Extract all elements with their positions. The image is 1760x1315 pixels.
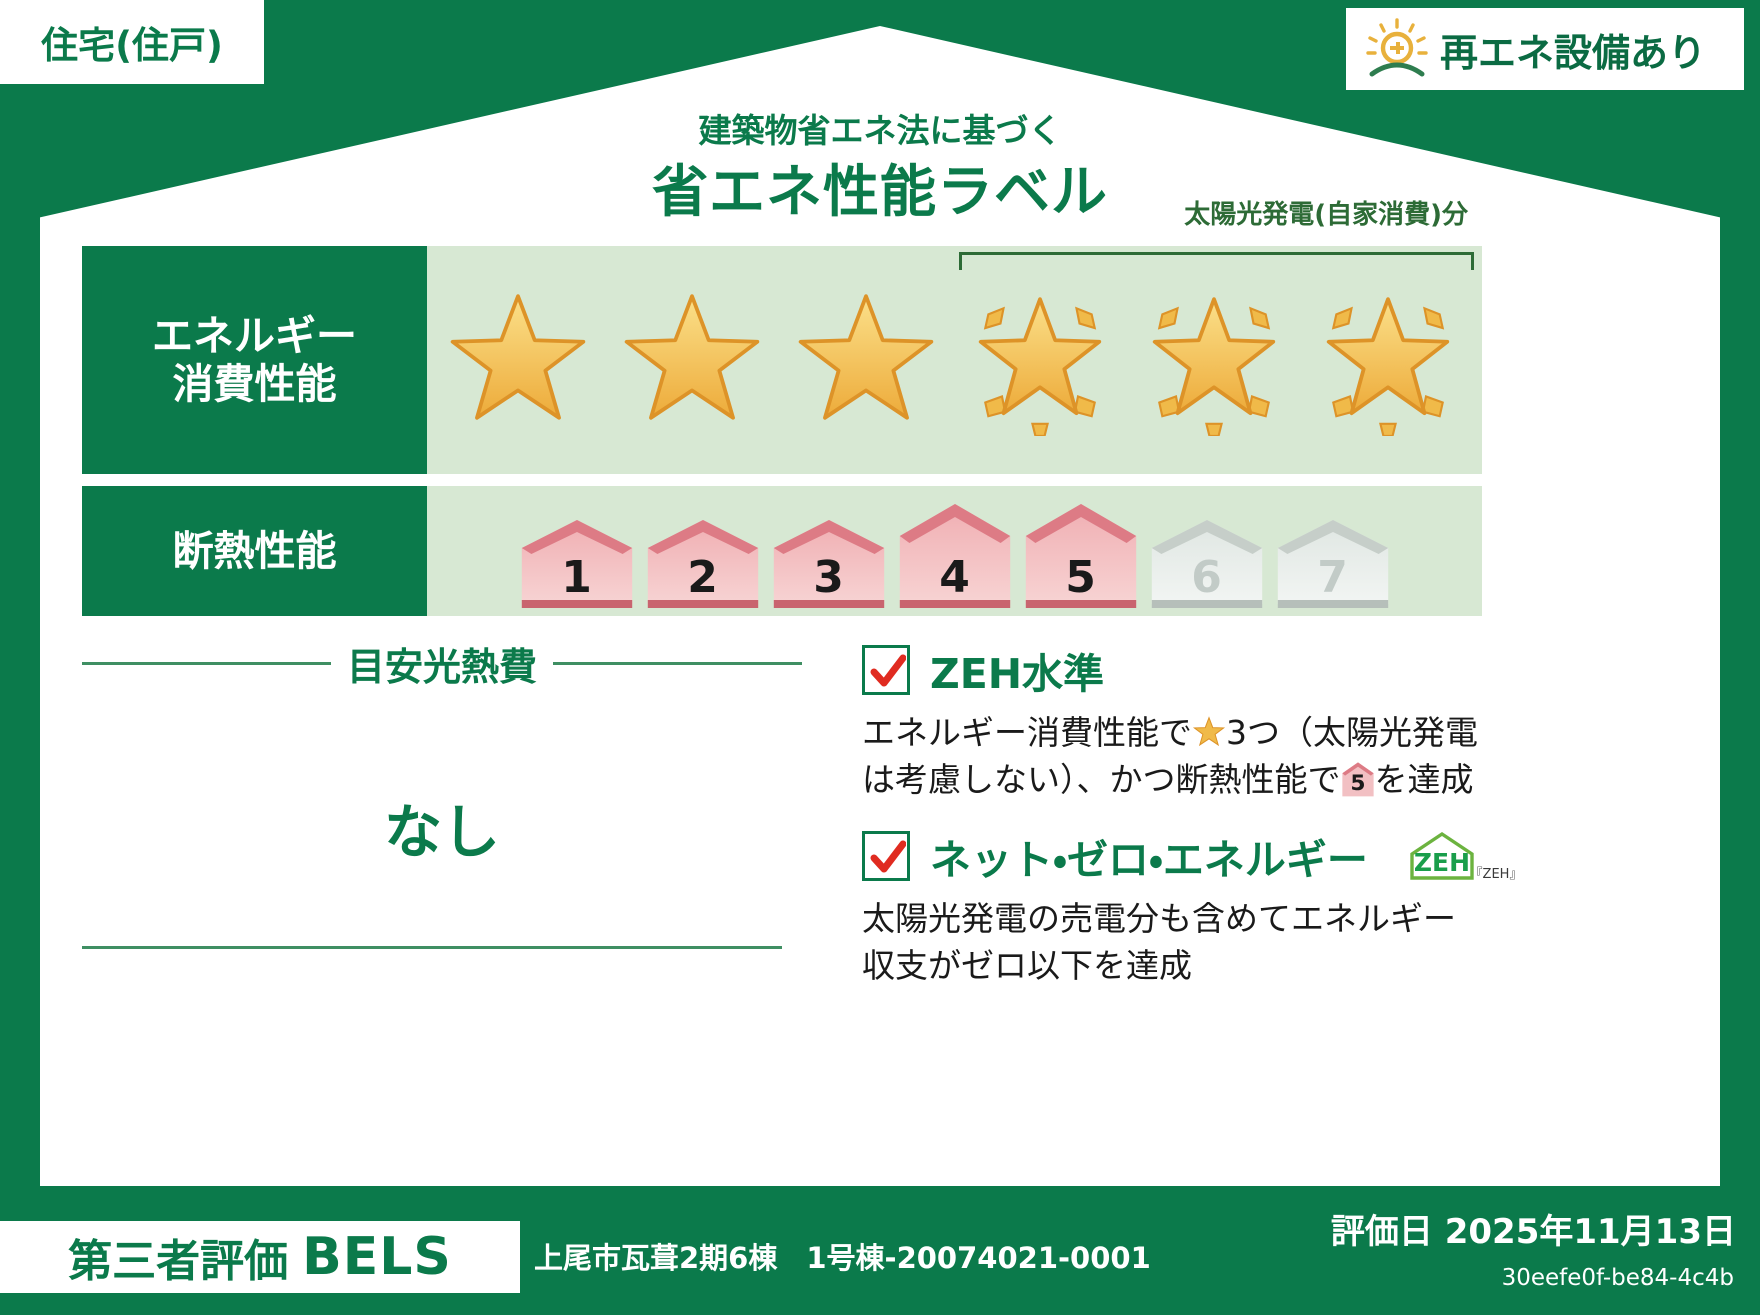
zeh-criteria-block: ZEH水準 エネルギー消費性能で3つ（太陽光発電 は考慮しない）、かつ断熱性能で… bbox=[862, 640, 1502, 995]
energy-star-field: 太陽光発電(自家消費)分 bbox=[427, 246, 1482, 474]
insulation-grade-number: 2 bbox=[643, 556, 763, 600]
bels-logo-text: BELS bbox=[302, 1227, 452, 1287]
energy-label-line1: エネルギー bbox=[152, 312, 357, 360]
renewable-badge-label: 再エネ設備あり bbox=[1440, 22, 1706, 77]
insulation-grade-7: 7 bbox=[1273, 516, 1393, 608]
net-zero-description: 太陽光発電の売電分も含めてエネルギー 収支がゼロ以下を達成 bbox=[862, 896, 1502, 990]
star-icon bbox=[442, 284, 594, 436]
insulation-grade-field: 1 2 3 bbox=[427, 486, 1482, 616]
zeh-desc-part4: を達成 bbox=[1375, 760, 1474, 799]
net-zero-desc-line2: 収支がゼロ以下を達成 bbox=[862, 946, 1192, 985]
star-icon-sparkle bbox=[1138, 284, 1290, 436]
net-zero-title: ネット・ゼロ・エネルギー bbox=[930, 826, 1368, 886]
svg-text:5: 5 bbox=[1350, 771, 1365, 796]
insulation-grade-number: 1 bbox=[517, 556, 637, 600]
insulation-grade-number: 4 bbox=[895, 556, 1015, 600]
insulation-performance-label: 断熱性能 bbox=[82, 486, 427, 616]
bels-energy-label: 住宅(住戸) 再エネ設備あり 建築物省エネ法に基づく 省エ bbox=[0, 0, 1760, 1315]
renewable-energy-badge: 再エネ設備あり bbox=[1346, 8, 1744, 90]
net-zero-head: ネット・ゼロ・エネルギー ZEH 『ZEH』 bbox=[862, 826, 1502, 886]
building-type-chip: 住宅(住戸) bbox=[0, 0, 264, 84]
svg-text:ZEH: ZEH bbox=[1414, 848, 1470, 877]
third-party-label: 第三者評価 bbox=[68, 1225, 288, 1289]
label-uid: 30eefe0f-be84-4c4b bbox=[1502, 1265, 1734, 1291]
zeh-desc-part2: 3つ（太陽光発電 bbox=[1226, 713, 1478, 752]
heading-rule-left bbox=[82, 662, 331, 665]
inline-star-icon bbox=[1192, 715, 1226, 749]
insulation-grade-group: 1 2 3 bbox=[427, 486, 1482, 616]
zeh-logo-icon: ZEH 『ZEH』 bbox=[1402, 828, 1518, 884]
zeh-standard-head: ZEH水準 bbox=[862, 640, 1502, 700]
star-icon bbox=[790, 284, 942, 436]
inline-grade-house-icon: 5 bbox=[1341, 761, 1375, 797]
solar-generation-note: 太陽光発電(自家消費)分 bbox=[1184, 194, 1468, 231]
utility-cost-heading: 目安光熱費 bbox=[347, 636, 537, 691]
insulation-grade-1: 1 bbox=[517, 516, 637, 608]
building-type-label: 住宅(住戸) bbox=[41, 15, 223, 69]
insulation-grade-number: 7 bbox=[1273, 556, 1393, 600]
insulation-grade-4: 4 bbox=[895, 500, 1015, 608]
energy-label-line2: 消費性能 bbox=[173, 360, 337, 408]
zeh-standard-item: ZEH水準 エネルギー消費性能で3つ（太陽光発電 は考慮しない）、かつ断熱性能で… bbox=[862, 640, 1502, 804]
star-icon-sparkle bbox=[964, 284, 1116, 436]
label-subtitle: 建築物省エネ法に基づく bbox=[0, 104, 1760, 152]
energy-performance-label: エネルギー 消費性能 bbox=[82, 246, 427, 474]
zeh-standard-title: ZEH水準 bbox=[930, 640, 1104, 700]
insulation-grade-6: 6 bbox=[1147, 516, 1267, 608]
utility-cost-bottom-rule bbox=[82, 946, 782, 949]
star-icon-sparkle bbox=[1312, 284, 1464, 436]
insulation-grade-number: 5 bbox=[1021, 556, 1141, 600]
insulation-grade-3: 3 bbox=[769, 516, 889, 608]
zeh-desc-part1: エネルギー消費性能で bbox=[862, 713, 1192, 752]
net-zero-energy-item: ネット・ゼロ・エネルギー ZEH 『ZEH』 太陽光発電の売電分も含めてエネルギ… bbox=[862, 826, 1502, 990]
utility-cost-heading-row: 目安光熱費 bbox=[82, 636, 802, 691]
label-title: 省エネ性能ラベル bbox=[0, 147, 1760, 228]
utility-cost-block: 目安光熱費 なし bbox=[82, 636, 802, 869]
bels-footer-chip: 第三者評価 BELS bbox=[0, 1221, 520, 1293]
evaluation-date: 評価日 2025年11月13日 bbox=[1331, 1204, 1736, 1253]
svg-text:『ZEH』: 『ZEH』 bbox=[1469, 867, 1517, 882]
solar-plug-icon bbox=[1364, 18, 1430, 80]
insulation-grade-2: 2 bbox=[643, 516, 763, 608]
energy-performance-row: エネルギー 消費性能 太陽光発電(自家消費)分 bbox=[82, 246, 1482, 474]
zeh-standard-description: エネルギー消費性能で3つ（太陽光発電 は考慮しない）、かつ断熱性能で5を達成 bbox=[862, 710, 1502, 804]
utility-cost-value: なし bbox=[82, 785, 802, 869]
insulation-grade-number: 3 bbox=[769, 556, 889, 600]
net-zero-desc-line1: 太陽光発電の売電分も含めてエネルギー bbox=[862, 899, 1456, 938]
star-rating-group bbox=[427, 246, 1482, 474]
insulation-grade-number: 6 bbox=[1147, 556, 1267, 600]
checkbox-checked-icon[interactable] bbox=[862, 831, 910, 881]
checkbox-checked-icon[interactable] bbox=[862, 645, 910, 695]
star-icon bbox=[616, 284, 768, 436]
heading-rule-right bbox=[553, 662, 802, 665]
insulation-grade-5: 5 bbox=[1021, 500, 1141, 608]
property-identifier: 上尾市瓦葺2期6棟 1号棟-20074021-0001 bbox=[534, 1235, 1151, 1277]
insulation-performance-row: 断熱性能 1 bbox=[82, 486, 1482, 616]
zeh-desc-part3: は考慮しない）、かつ断熱性能で bbox=[862, 760, 1341, 799]
